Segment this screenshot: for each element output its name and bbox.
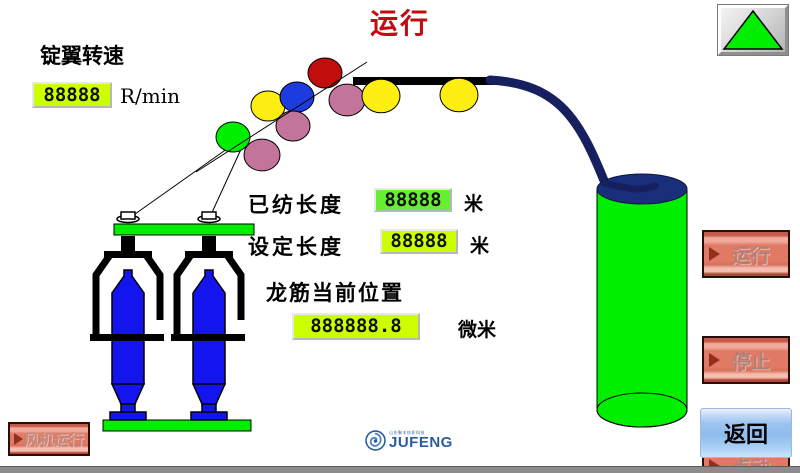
bobbin-ball-2 [244, 139, 280, 171]
diagonal-guide-line [196, 62, 367, 172]
rail-position-label: 龙筋当前位置 [266, 277, 404, 307]
upper-rail [114, 224, 254, 235]
rail-position-unit: 微米 [458, 315, 496, 342]
spun-length-value[interactable]: 88888 [374, 188, 452, 212]
bobbin-ball-4 [276, 111, 310, 141]
set-length-unit: 米 [470, 231, 489, 258]
triangle-up-icon [721, 8, 785, 52]
brand-logo: 山东聚丰纺织科技 JUFENG [365, 430, 453, 451]
spindle-speed-label: 锭翼转速 [40, 40, 124, 70]
sliver-can-body [597, 190, 687, 427]
spun-length-label: 已纺长度 [248, 189, 344, 219]
bottom-status-strip [0, 466, 800, 473]
spun-length-unit: 米 [464, 189, 483, 216]
bobbin-ball-7 [362, 79, 400, 112]
bobbin-ball-0 [216, 122, 250, 152]
bobbin-ball-5 [308, 58, 342, 88]
fan-running-button[interactable]: 风机运行 [8, 422, 90, 456]
flyer-unit-right [171, 212, 245, 420]
fan-running-label: 风机运行 [23, 429, 88, 450]
bobbin-ball-8 [440, 78, 478, 111]
page-title: 运行 [0, 2, 800, 42]
return-button[interactable]: 返回 [700, 408, 792, 458]
play-arrow-icon [14, 433, 23, 445]
play-arrow-icon [709, 353, 720, 367]
swirl-circle-icon [365, 430, 386, 451]
up-triangle-button[interactable] [718, 5, 788, 55]
spindle-speed-value[interactable]: 88888 [32, 82, 112, 108]
set-length-value[interactable]: 88888 [380, 229, 458, 254]
flyer-unit-left [90, 212, 164, 420]
stop-button[interactable]: 停止 [702, 336, 790, 384]
run-button[interactable]: 运行 [702, 230, 790, 278]
rail-position-value[interactable]: 888888.8 [292, 313, 420, 340]
spindle-speed-unit: R/min [120, 84, 180, 108]
lower-rail [103, 420, 251, 431]
roving-path [490, 80, 607, 188]
hmi-screen: 运行 锭翼转速 88888 R/min 已纺长度 88888 米 设定长度 88… [0, 0, 800, 473]
set-length-label: 设定长度 [248, 231, 344, 261]
logo-wordmark: JUFENG [389, 435, 453, 450]
play-arrow-icon [709, 247, 720, 261]
run-button-label: 运行 [720, 241, 788, 268]
stop-button-label: 停止 [720, 347, 788, 374]
bobbin-ball-6 [329, 84, 365, 116]
